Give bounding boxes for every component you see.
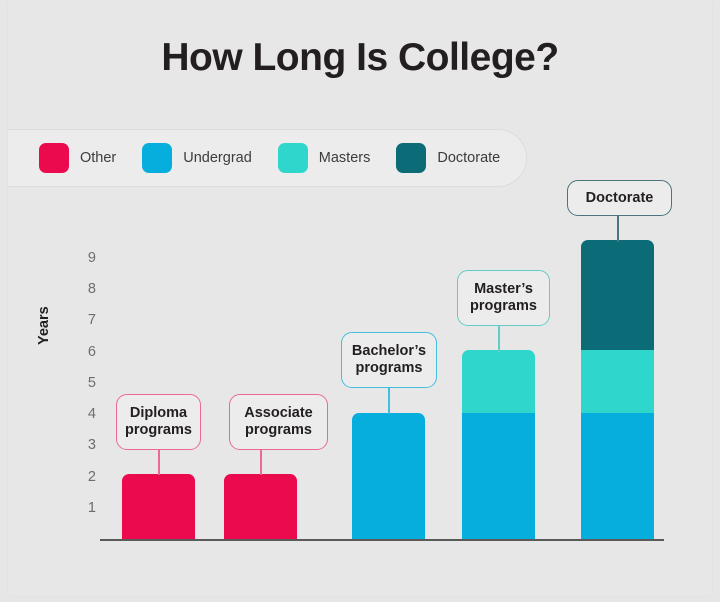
bar-associate[interactable] [224, 474, 297, 539]
plot-area: Years 9 8 7 6 5 4 3 2 1 [0, 0, 720, 602]
bar-segment-undergrad [352, 413, 425, 539]
bar-segment-other [224, 474, 297, 539]
y-tick-7: 7 [74, 312, 96, 328]
y-tick-9: 9 [74, 250, 96, 266]
bar-segment-other [122, 474, 195, 539]
callout-associate[interactable]: Associateprograms [229, 394, 328, 450]
bar-segment-undergrad [581, 413, 654, 539]
y-tick-5: 5 [74, 375, 96, 391]
callout-text-masters: Master’sprograms [470, 281, 537, 314]
callout-bachelors[interactable]: Bachelor’sprograms [341, 332, 437, 388]
y-tick-8: 8 [74, 281, 96, 297]
callout-text-doctorate: Doctorate [586, 190, 654, 207]
chart-canvas: How Long Is College? Other Undergrad Mas… [0, 0, 720, 602]
callout-connector-masters [498, 325, 500, 352]
bar-diploma[interactable] [122, 474, 195, 539]
y-tick-2: 2 [74, 469, 96, 485]
callout-doctorate[interactable]: Doctorate [567, 180, 672, 216]
y-tick-3: 3 [74, 437, 96, 453]
callout-text-bachelors: Bachelor’sprograms [352, 343, 426, 376]
bar-segment-masters [462, 350, 535, 413]
bar-doctorate[interactable] [581, 240, 654, 539]
callout-text-diploma: Diplomaprograms [125, 405, 192, 438]
y-axis-title: Years [36, 306, 52, 345]
bar-segment-masters [581, 350, 654, 413]
callout-connector-doctorate [617, 215, 619, 242]
x-axis-line [100, 539, 664, 541]
y-tick-6: 6 [74, 344, 96, 360]
y-tick-4: 4 [74, 406, 96, 422]
bar-masters[interactable] [462, 350, 535, 539]
callout-masters[interactable]: Master’sprograms [457, 270, 550, 326]
callout-connector-bachelors [388, 387, 390, 414]
bar-segment-doctorate [581, 240, 654, 350]
callout-connector-diploma [158, 449, 160, 475]
callout-diploma[interactable]: Diplomaprograms [116, 394, 201, 450]
callout-text-associate: Associateprograms [244, 405, 313, 438]
y-tick-1: 1 [74, 500, 96, 516]
bar-bachelors[interactable] [352, 413, 425, 539]
bar-segment-undergrad [462, 413, 535, 539]
callout-connector-associate [260, 449, 262, 475]
